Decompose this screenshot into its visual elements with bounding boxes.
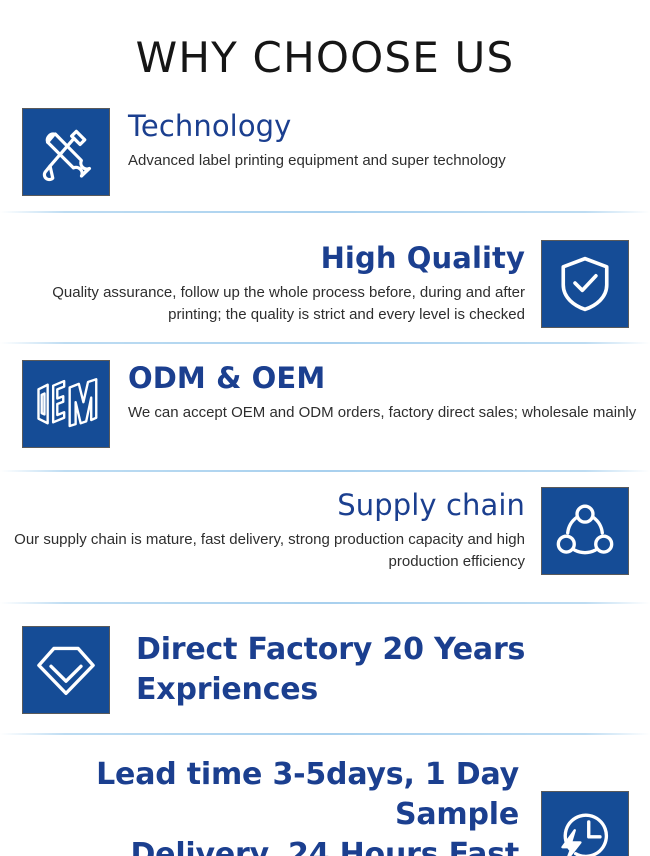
- why-choose-us-page: WHY CHOOSE US Technology Advanced label …: [0, 0, 650, 856]
- feature-row-direct-factory: Direct Factory 20 Years Expriences: [0, 626, 650, 714]
- shield-check-icon: [541, 240, 629, 328]
- feature-description: Quality assurance, follow up the whole p…: [8, 282, 525, 326]
- feature-text-supply-chain: Supply chain Our supply chain is mature,…: [0, 487, 541, 573]
- feature-row-lead-time: Lead time 3-5days, 1 Day Sample Delivery…: [0, 755, 650, 856]
- section-divider: [0, 470, 650, 472]
- feature-row-high-quality: High Quality Quality assurance, follow u…: [0, 240, 650, 328]
- feature-row-odm-oem: ODM & OEM We can accept OEM and ODM orde…: [0, 360, 650, 448]
- feature-title: ODM & OEM: [128, 360, 642, 396]
- feature-description: Our supply chain is mature, fast deliver…: [8, 529, 525, 573]
- feature-text-technology: Technology Advanced label printing equip…: [110, 108, 650, 172]
- feature-description: Advanced label printing equipment and su…: [128, 150, 642, 172]
- feature-text-odm-oem: ODM & OEM We can accept OEM and ODM orde…: [110, 360, 650, 424]
- feature-title: Supply chain: [8, 487, 525, 523]
- feature-text-lead-time: Lead time 3-5days, 1 Day Sample Delivery…: [0, 755, 541, 856]
- feature-title-line-1: Lead time 3-5days, 1 Day Sample: [8, 755, 519, 835]
- clock-lightning-icon: [541, 791, 629, 856]
- feature-text-direct-factory: Direct Factory 20 Years Expriences: [110, 630, 650, 710]
- oem-3d-icon: [22, 360, 110, 448]
- feature-row-technology: Technology Advanced label printing equip…: [0, 108, 650, 196]
- wrench-hammer-icon: [22, 108, 110, 196]
- feature-title: Technology: [128, 108, 642, 144]
- feature-title: High Quality: [8, 240, 525, 276]
- feature-title-line-2: Delivery, 24 Hours Fast Response: [8, 835, 519, 856]
- supply-chain-network-icon: [541, 487, 629, 575]
- feature-row-supply-chain: Supply chain Our supply chain is mature,…: [0, 487, 650, 575]
- section-divider: [0, 602, 650, 604]
- feature-title: Direct Factory 20 Years Expriences: [136, 630, 642, 710]
- section-divider: [0, 733, 650, 735]
- diamond-icon: [22, 626, 110, 714]
- section-divider: [0, 342, 650, 344]
- page-title: WHY CHOOSE US: [0, 34, 650, 82]
- feature-description: We can accept OEM and ODM orders, factor…: [128, 402, 642, 424]
- feature-text-high-quality: High Quality Quality assurance, follow u…: [0, 240, 541, 326]
- section-divider: [0, 211, 650, 213]
